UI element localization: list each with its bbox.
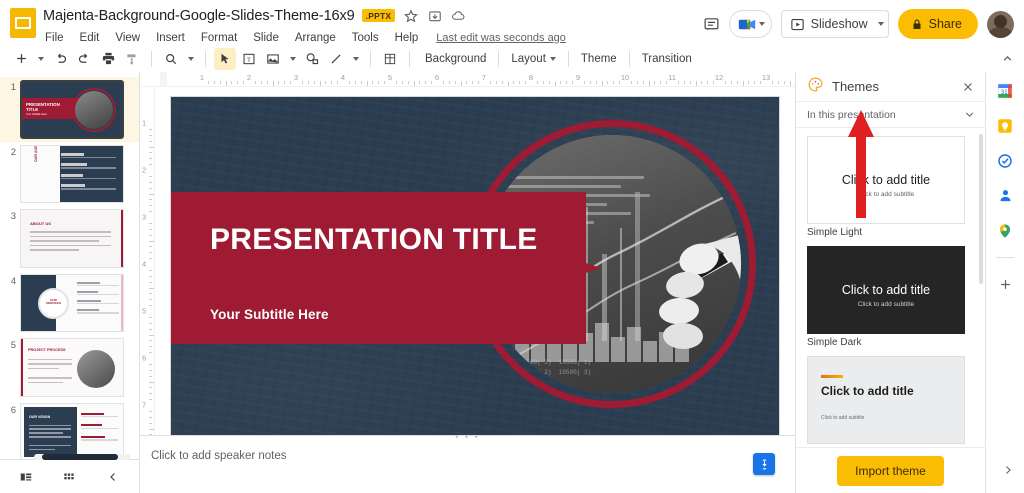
menu-format[interactable]: Format xyxy=(199,31,239,45)
themes-panel-footer: Import theme xyxy=(796,447,985,493)
slide-number: 1 xyxy=(2,80,20,93)
ruler-tick-label: 1 xyxy=(200,73,204,82)
offline-status-icon[interactable] xyxy=(450,7,467,24)
ruler-tick-label: 13 xyxy=(762,73,770,82)
ruler-tick-label: 10 xyxy=(621,73,629,82)
theme-subtitle-text: Click to add subtitle xyxy=(808,191,964,198)
speaker-notes-placeholder[interactable]: Click to add speaker notes xyxy=(151,450,287,462)
select-tool-button[interactable] xyxy=(214,48,236,70)
ruler-tick-label: 1 xyxy=(142,119,146,128)
layout-label: Layout xyxy=(511,53,546,65)
slide-number: 5 xyxy=(2,338,20,351)
line-dropdown[interactable] xyxy=(349,48,362,70)
google-maps-icon[interactable] xyxy=(995,220,1016,241)
theme-title-text: Click to add title xyxy=(808,173,964,187)
ruler-tick-label: 9 xyxy=(576,73,580,82)
file-type-badge: .PPTX xyxy=(362,9,396,22)
stage-wrap: 1234567 xyxy=(140,87,795,435)
ruler-tick-label: 5 xyxy=(142,307,146,316)
horizontal-scrollbar[interactable] xyxy=(34,454,131,460)
ruler-tick-label: 5 xyxy=(388,73,392,82)
slide-title[interactable]: PRESENTATION TITLE xyxy=(210,223,538,257)
header-actions: Slideshow Share xyxy=(703,9,1016,39)
google-contacts-icon[interactable] xyxy=(995,185,1016,206)
filmstrip-footer xyxy=(0,459,139,493)
themes-filter-dropdown[interactable]: In this presentation xyxy=(796,101,985,128)
themes-panel-header: Themes xyxy=(796,72,985,101)
lock-icon xyxy=(911,18,923,31)
present-icon xyxy=(790,17,805,32)
vertical-ruler: 1234567 xyxy=(140,87,155,435)
list-item[interactable]: 2 OUR AGENDA xyxy=(0,142,139,207)
slide-thumbnail-5[interactable]: PROJECT PROCESS xyxy=(20,338,124,397)
background-button[interactable]: Background xyxy=(418,50,493,68)
slideshow-dropdown-icon[interactable] xyxy=(878,22,884,26)
ruler-tick-label: 2 xyxy=(142,166,146,175)
slide-number: 6 xyxy=(2,403,20,416)
close-icon[interactable] xyxy=(959,78,976,95)
slide-thumbnail-4[interactable]: OURSERVICES xyxy=(20,274,124,333)
shape-button[interactable] xyxy=(301,48,323,70)
text-box-button[interactable]: T xyxy=(238,48,260,70)
theme-title-text: Click to add title xyxy=(808,283,964,297)
redo-button[interactable] xyxy=(73,48,95,70)
slide-subtitle[interactable]: Your Subtitle Here xyxy=(210,307,329,322)
ruler-tick-label: 3 xyxy=(294,73,298,82)
zoom-dropdown[interactable] xyxy=(184,48,197,70)
theme-card-streamline[interactable]: Click to add title Click to add subtitle xyxy=(807,356,965,444)
menu-edit[interactable]: Edit xyxy=(78,31,102,45)
slide-thumbnail-3[interactable]: ABOUT US xyxy=(20,209,124,268)
add-note-icon[interactable] xyxy=(753,453,775,475)
price-readout: 10590( 2) 10505( 1)10585( 2) 10500( 3) xyxy=(519,358,591,377)
notes-resize-grip[interactable]: • • • xyxy=(455,432,479,442)
canvas-area: 12345678910111213 1234567 xyxy=(140,72,795,493)
google-meet-icon xyxy=(737,17,757,32)
image-dropdown[interactable] xyxy=(286,48,299,70)
list-item[interactable]: 3 ABOUT US xyxy=(0,206,139,271)
list-item[interactable]: 5 PROJECT PROCESS xyxy=(0,335,139,400)
rail-divider xyxy=(996,257,1014,258)
theme-name-simple-dark: Simple Dark xyxy=(807,337,974,348)
theme-card-simple-dark[interactable]: Click to add title Click to add subtitle xyxy=(807,246,965,334)
document-title[interactable]: Majenta-Background-Google-Slides-Theme-1… xyxy=(43,8,355,24)
theme-subtitle-text: Click to add subtitle xyxy=(821,415,864,421)
menu-file[interactable]: File xyxy=(43,31,66,45)
svg-text:T: T xyxy=(247,56,251,63)
new-slide-button[interactable] xyxy=(10,48,32,70)
slide-number: 3 xyxy=(2,209,20,222)
theme-accent-bar xyxy=(821,375,843,378)
ruler-tick-label: 3 xyxy=(142,213,146,222)
chevron-down-icon xyxy=(550,57,556,61)
menu-help[interactable]: Help xyxy=(393,31,421,45)
insert-table-button[interactable] xyxy=(379,48,401,70)
google-keep-icon[interactable] xyxy=(995,115,1016,136)
new-slide-dropdown[interactable] xyxy=(34,48,47,70)
filmstrip-view-icon[interactable] xyxy=(14,465,38,489)
menu-slide[interactable]: Slide xyxy=(251,31,281,45)
horizontal-ruler-body: 12345678910111213 xyxy=(160,72,795,86)
filmstrip-scroll[interactable]: 1 PRESENTATIONTITLE Your Subtitle Here 2… xyxy=(0,72,139,459)
hand-with-pen-illustration xyxy=(627,223,741,373)
google-meet-button[interactable] xyxy=(729,10,772,38)
ruler-tick-label: 8 xyxy=(529,73,533,82)
menu-tools[interactable]: Tools xyxy=(350,31,381,45)
share-label: Share xyxy=(929,17,962,31)
theme-title-text: Click to add title xyxy=(821,384,914,398)
side-rail: 31 xyxy=(985,72,1024,493)
insert-image-button[interactable] xyxy=(262,48,284,70)
move-to-folder-icon[interactable] xyxy=(426,7,443,24)
ruler-tick-label: 6 xyxy=(142,354,146,363)
import-theme-button[interactable]: Import theme xyxy=(837,456,944,486)
slide-number: 4 xyxy=(2,274,20,287)
grid-view-icon[interactable] xyxy=(57,465,81,489)
slides-app-window: Majenta-Background-Google-Slides-Theme-1… xyxy=(0,0,1024,493)
themes-panel: Themes In this presentation Click to add… xyxy=(795,72,985,493)
themes-palette-icon xyxy=(807,76,824,98)
list-item[interactable]: 1 PRESENTATIONTITLE Your Subtitle Here xyxy=(0,77,139,142)
comment-history-icon[interactable] xyxy=(703,16,720,33)
ruler-tick-label: 2 xyxy=(247,73,251,82)
app-header: Majenta-Background-Google-Slides-Theme-1… xyxy=(0,0,1024,45)
menu-arrange[interactable]: Arrange xyxy=(293,31,338,45)
title-and-menus: Majenta-Background-Google-Slides-Theme-1… xyxy=(43,5,703,47)
slide-thumbnail-2[interactable]: OUR AGENDA xyxy=(20,145,124,204)
chevron-down-icon xyxy=(759,22,765,26)
slide-stage[interactable]: 10590( 2) 10505( 1)10585( 2) 10500( 3) xyxy=(155,87,795,435)
ruler-tick-label: 11 xyxy=(668,73,676,82)
theme-name-simple-light: Simple Light xyxy=(807,227,974,238)
layout-button[interactable]: Layout xyxy=(504,50,563,68)
slide-number: 2 xyxy=(2,145,20,158)
themes-list[interactable]: Click to add title Click to add subtitle… xyxy=(796,128,985,447)
theme-subtitle-text: Click to add subtitle xyxy=(808,301,964,308)
collapse-filmstrip-button[interactable] xyxy=(101,465,125,489)
ruler-tick-label: 4 xyxy=(341,73,345,82)
expand-rail-icon[interactable] xyxy=(1002,463,1014,481)
last-edit-status[interactable]: Last edit was seconds ago xyxy=(436,32,566,44)
share-button[interactable]: Share xyxy=(898,9,978,39)
slide-thumbnail-6[interactable]: OUR VISION xyxy=(20,403,124,460)
theme-button[interactable]: Theme xyxy=(574,50,624,68)
add-on-plus-icon[interactable] xyxy=(995,274,1016,295)
themes-scrollbar[interactable] xyxy=(979,134,983,284)
transition-button[interactable]: Transition xyxy=(635,50,699,68)
editor-body: 1 PRESENTATIONTITLE Your Subtitle Here 2… xyxy=(0,72,1024,493)
ruler-tick-label: 12 xyxy=(715,73,723,82)
title-row: Majenta-Background-Google-Slides-Theme-1… xyxy=(43,5,703,26)
slideshow-label: Slideshow xyxy=(811,17,868,31)
chevron-down-icon xyxy=(963,108,976,121)
slides-logo-icon xyxy=(10,8,36,38)
paint-format-button[interactable] xyxy=(121,48,143,70)
collapse-toolbar-button[interactable] xyxy=(996,48,1018,70)
zoom-button[interactable] xyxy=(160,48,182,70)
svg-text:31: 31 xyxy=(1001,90,1008,96)
print-button[interactable] xyxy=(97,48,119,70)
main-toolbar: T Background Layout Theme Transition xyxy=(0,45,1024,72)
theme-card-simple-light[interactable]: Click to add title Click to add subtitle xyxy=(807,136,965,224)
avatar[interactable] xyxy=(987,11,1014,38)
active-slide-canvas[interactable]: 10590( 2) 10505( 1)10585( 2) 10500( 3) xyxy=(171,97,779,435)
list-item[interactable]: 4 OURSERVICES xyxy=(0,271,139,336)
menu-insert[interactable]: Insert xyxy=(154,31,187,45)
undo-button[interactable] xyxy=(49,48,71,70)
horizontal-ruler: 12345678910111213 xyxy=(140,72,795,87)
line-button[interactable] xyxy=(325,48,347,70)
ruler-tick-label: 7 xyxy=(142,401,146,410)
themes-panel-title: Themes xyxy=(832,79,951,94)
star-icon[interactable] xyxy=(402,7,419,24)
ruler-tick-label: 7 xyxy=(482,73,486,82)
google-calendar-icon[interactable]: 31 xyxy=(995,80,1016,101)
menu-view[interactable]: View xyxy=(113,31,142,45)
slideshow-button[interactable]: Slideshow xyxy=(781,10,889,38)
ruler-tick-label: 6 xyxy=(435,73,439,82)
speaker-notes-pane[interactable]: • • • Click to add speaker notes xyxy=(140,435,795,493)
ruler-tick-label: 4 xyxy=(142,260,146,269)
themes-filter-label: In this presentation xyxy=(807,109,963,121)
google-tasks-icon[interactable] xyxy=(995,150,1016,171)
slide-thumbnail-1[interactable]: PRESENTATIONTITLE Your Subtitle Here xyxy=(20,80,124,139)
slide-filmstrip: 1 PRESENTATIONTITLE Your Subtitle Here 2… xyxy=(0,72,140,493)
list-item[interactable]: 6 OUR VISION xyxy=(0,400,139,460)
